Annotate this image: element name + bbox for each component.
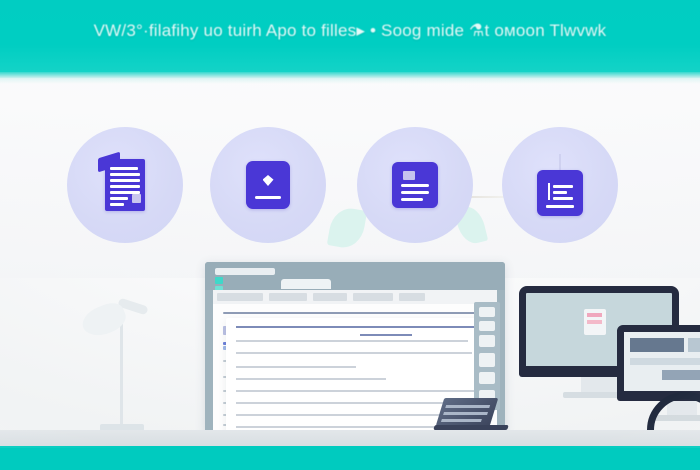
tag-label-icon [537,154,583,216]
illustration-canvas: VW/3°·filafihy uo tuirh Apo to filles▸ •… [0,0,700,470]
header-banner-fade [0,72,700,84]
feature-circle-badge[interactable] [210,127,326,243]
desk-front-edge [0,446,700,470]
text-card-icon [392,162,438,208]
laptop-lid [436,398,499,426]
feature-circle-text-card[interactable] [357,127,473,243]
document-sheet-icon [105,159,145,211]
tool-button[interactable] [479,372,495,384]
badge-card-icon [246,161,290,209]
tool-sidebar[interactable] [474,302,500,410]
browser-tab[interactable] [281,279,331,289]
browser-title-bar [205,262,505,290]
laptop-base [433,425,509,430]
screen-card [584,309,606,335]
feature-circle-tag[interactable] [502,127,618,243]
browser-accent-marker [215,277,223,284]
page-toolbar [213,290,497,304]
tool-button[interactable] [479,321,495,331]
tool-button[interactable] [479,353,495,367]
tool-button[interactable] [479,335,495,347]
feature-circle-document[interactable] [67,127,183,243]
tool-button[interactable] [479,307,495,317]
laptop [434,398,512,436]
desk-lamp [78,300,164,432]
monitor-screen [617,325,700,399]
banner-headline: VW/3°·filafihy uo tuirh Apo to filles▸ •… [0,21,700,41]
browser-address-field[interactable] [215,268,275,275]
